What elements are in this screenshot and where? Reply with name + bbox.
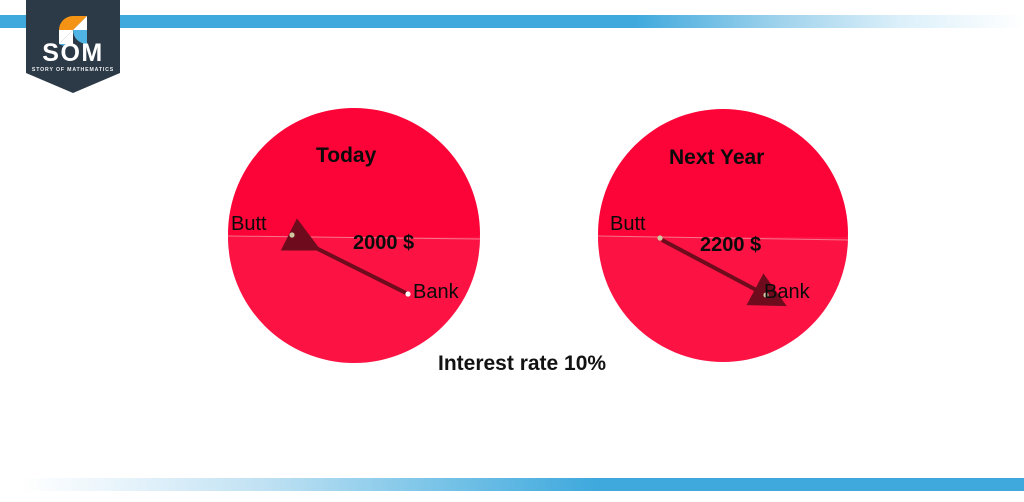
pie-today-title: Today [316, 144, 376, 168]
pie-today-amount-label: 2000 $ [353, 232, 414, 255]
pie-next-target-label: Bank [764, 281, 810, 304]
interest-rate-caption: Interest rate 10% [438, 352, 606, 376]
pie-today-target-label: Bank [413, 281, 459, 304]
pie-next-source-label: Butt [610, 213, 646, 236]
pie-next-source-dot [657, 235, 662, 240]
pie-today-target-dot [405, 291, 410, 296]
pie-next-amount-label: 2200 $ [700, 234, 761, 257]
diagram-svg [0, 0, 1024, 502]
screenshot-canvas: SOM STORY OF MATHEMATICS [0, 0, 1024, 502]
pie-today-source-dot [289, 232, 294, 237]
interest-diagram: Today Butt 2000 $ Bank Next Year Butt 22… [0, 0, 1024, 502]
pie-next-title: Next Year [669, 146, 764, 170]
pie-today-source-label: Butt [231, 213, 267, 236]
